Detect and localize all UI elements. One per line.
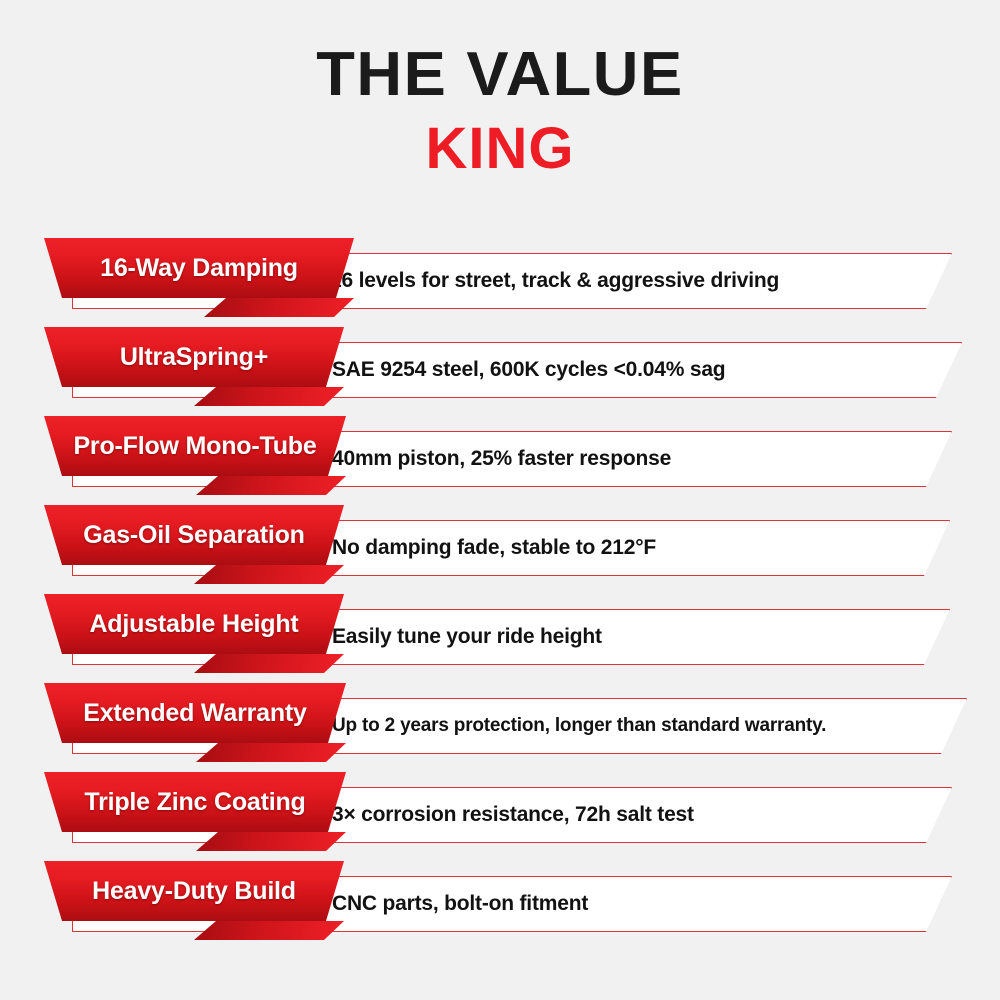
feature-row: SAE 9254 steel, 600K cycles <0.04% sagUl… — [0, 319, 1000, 408]
feature-row: No damping fade, stable to 212°FGas-Oil … — [0, 497, 1000, 586]
ribbon-banner: Triple Zinc Coating — [44, 772, 346, 832]
ribbon-fold-icon — [196, 476, 346, 495]
feature-list: 16 levels for street, track & aggressive… — [0, 230, 1000, 942]
feature-title-label: UltraSpring+ — [114, 343, 274, 372]
feature-row: 16 levels for street, track & aggressive… — [0, 230, 1000, 319]
feature-ribbon[interactable]: Triple Zinc Coating — [44, 772, 346, 832]
feature-ribbon[interactable]: Heavy-Duty Build — [44, 861, 344, 921]
feature-ribbon[interactable]: Gas-Oil Separation — [44, 505, 344, 565]
title-line-accent: KING — [0, 120, 1000, 178]
ribbon-fold-icon — [194, 387, 344, 406]
feature-ribbon[interactable]: Adjustable Height — [44, 594, 344, 654]
ribbon-fold-icon — [194, 921, 344, 940]
ribbon-fold-icon — [194, 654, 344, 673]
feature-description-text: No damping fade, stable to 212°F — [332, 520, 656, 576]
ribbon-banner: UltraSpring+ — [44, 327, 344, 387]
feature-ribbon[interactable]: 16-Way Damping — [44, 238, 354, 298]
feature-description-text: Up to 2 years protection, longer than st… — [332, 698, 826, 754]
ribbon-banner: 16-Way Damping — [44, 238, 354, 298]
ribbon-banner: Extended Warranty — [44, 683, 346, 743]
feature-description-text: 16 levels for street, track & aggressive… — [330, 253, 779, 309]
feature-ribbon[interactable]: Extended Warranty — [44, 683, 346, 743]
infographic-canvas: THE VALUE KING 16 levels for street, tra… — [0, 0, 1000, 1000]
feature-description-text: 3× corrosion resistance, 72h salt test — [332, 787, 694, 843]
feature-description-text: Easily tune your ride height — [332, 609, 602, 665]
ribbon-fold-icon — [194, 565, 344, 584]
feature-title-label: Pro-Flow Mono-Tube — [67, 432, 322, 461]
feature-row: 40mm piston, 25% faster responsePro-Flow… — [0, 408, 1000, 497]
feature-title-label: 16-Way Damping — [94, 254, 304, 283]
feature-title-label: Adjustable Height — [83, 610, 304, 639]
ribbon-banner: Adjustable Height — [44, 594, 344, 654]
feature-row: Up to 2 years protection, longer than st… — [0, 675, 1000, 764]
feature-title-label: Heavy-Duty Build — [86, 877, 302, 906]
feature-title-label: Triple Zinc Coating — [78, 788, 311, 817]
ribbon-banner: Gas-Oil Separation — [44, 505, 344, 565]
feature-row: Easily tune your ride heightAdjustable H… — [0, 586, 1000, 675]
feature-title-label: Gas-Oil Separation — [77, 521, 310, 550]
feature-row: CNC parts, bolt-on fitmentHeavy-Duty Bui… — [0, 853, 1000, 942]
feature-description-text: SAE 9254 steel, 600K cycles <0.04% sag — [332, 342, 725, 398]
feature-ribbon[interactable]: Pro-Flow Mono-Tube — [44, 416, 346, 476]
ribbon-fold-icon — [196, 743, 346, 762]
ribbon-banner: Heavy-Duty Build — [44, 861, 344, 921]
title-line-primary: THE VALUE — [0, 44, 1000, 106]
page-title: THE VALUE KING — [0, 44, 1000, 178]
feature-row: 3× corrosion resistance, 72h salt testTr… — [0, 764, 1000, 853]
feature-description-text: CNC parts, bolt-on fitment — [332, 876, 588, 932]
feature-ribbon[interactable]: UltraSpring+ — [44, 327, 344, 387]
feature-description-text: 40mm piston, 25% faster response — [332, 431, 671, 487]
ribbon-fold-icon — [204, 298, 354, 317]
ribbon-banner: Pro-Flow Mono-Tube — [44, 416, 346, 476]
ribbon-fold-icon — [196, 832, 346, 851]
feature-title-label: Extended Warranty — [77, 699, 313, 728]
